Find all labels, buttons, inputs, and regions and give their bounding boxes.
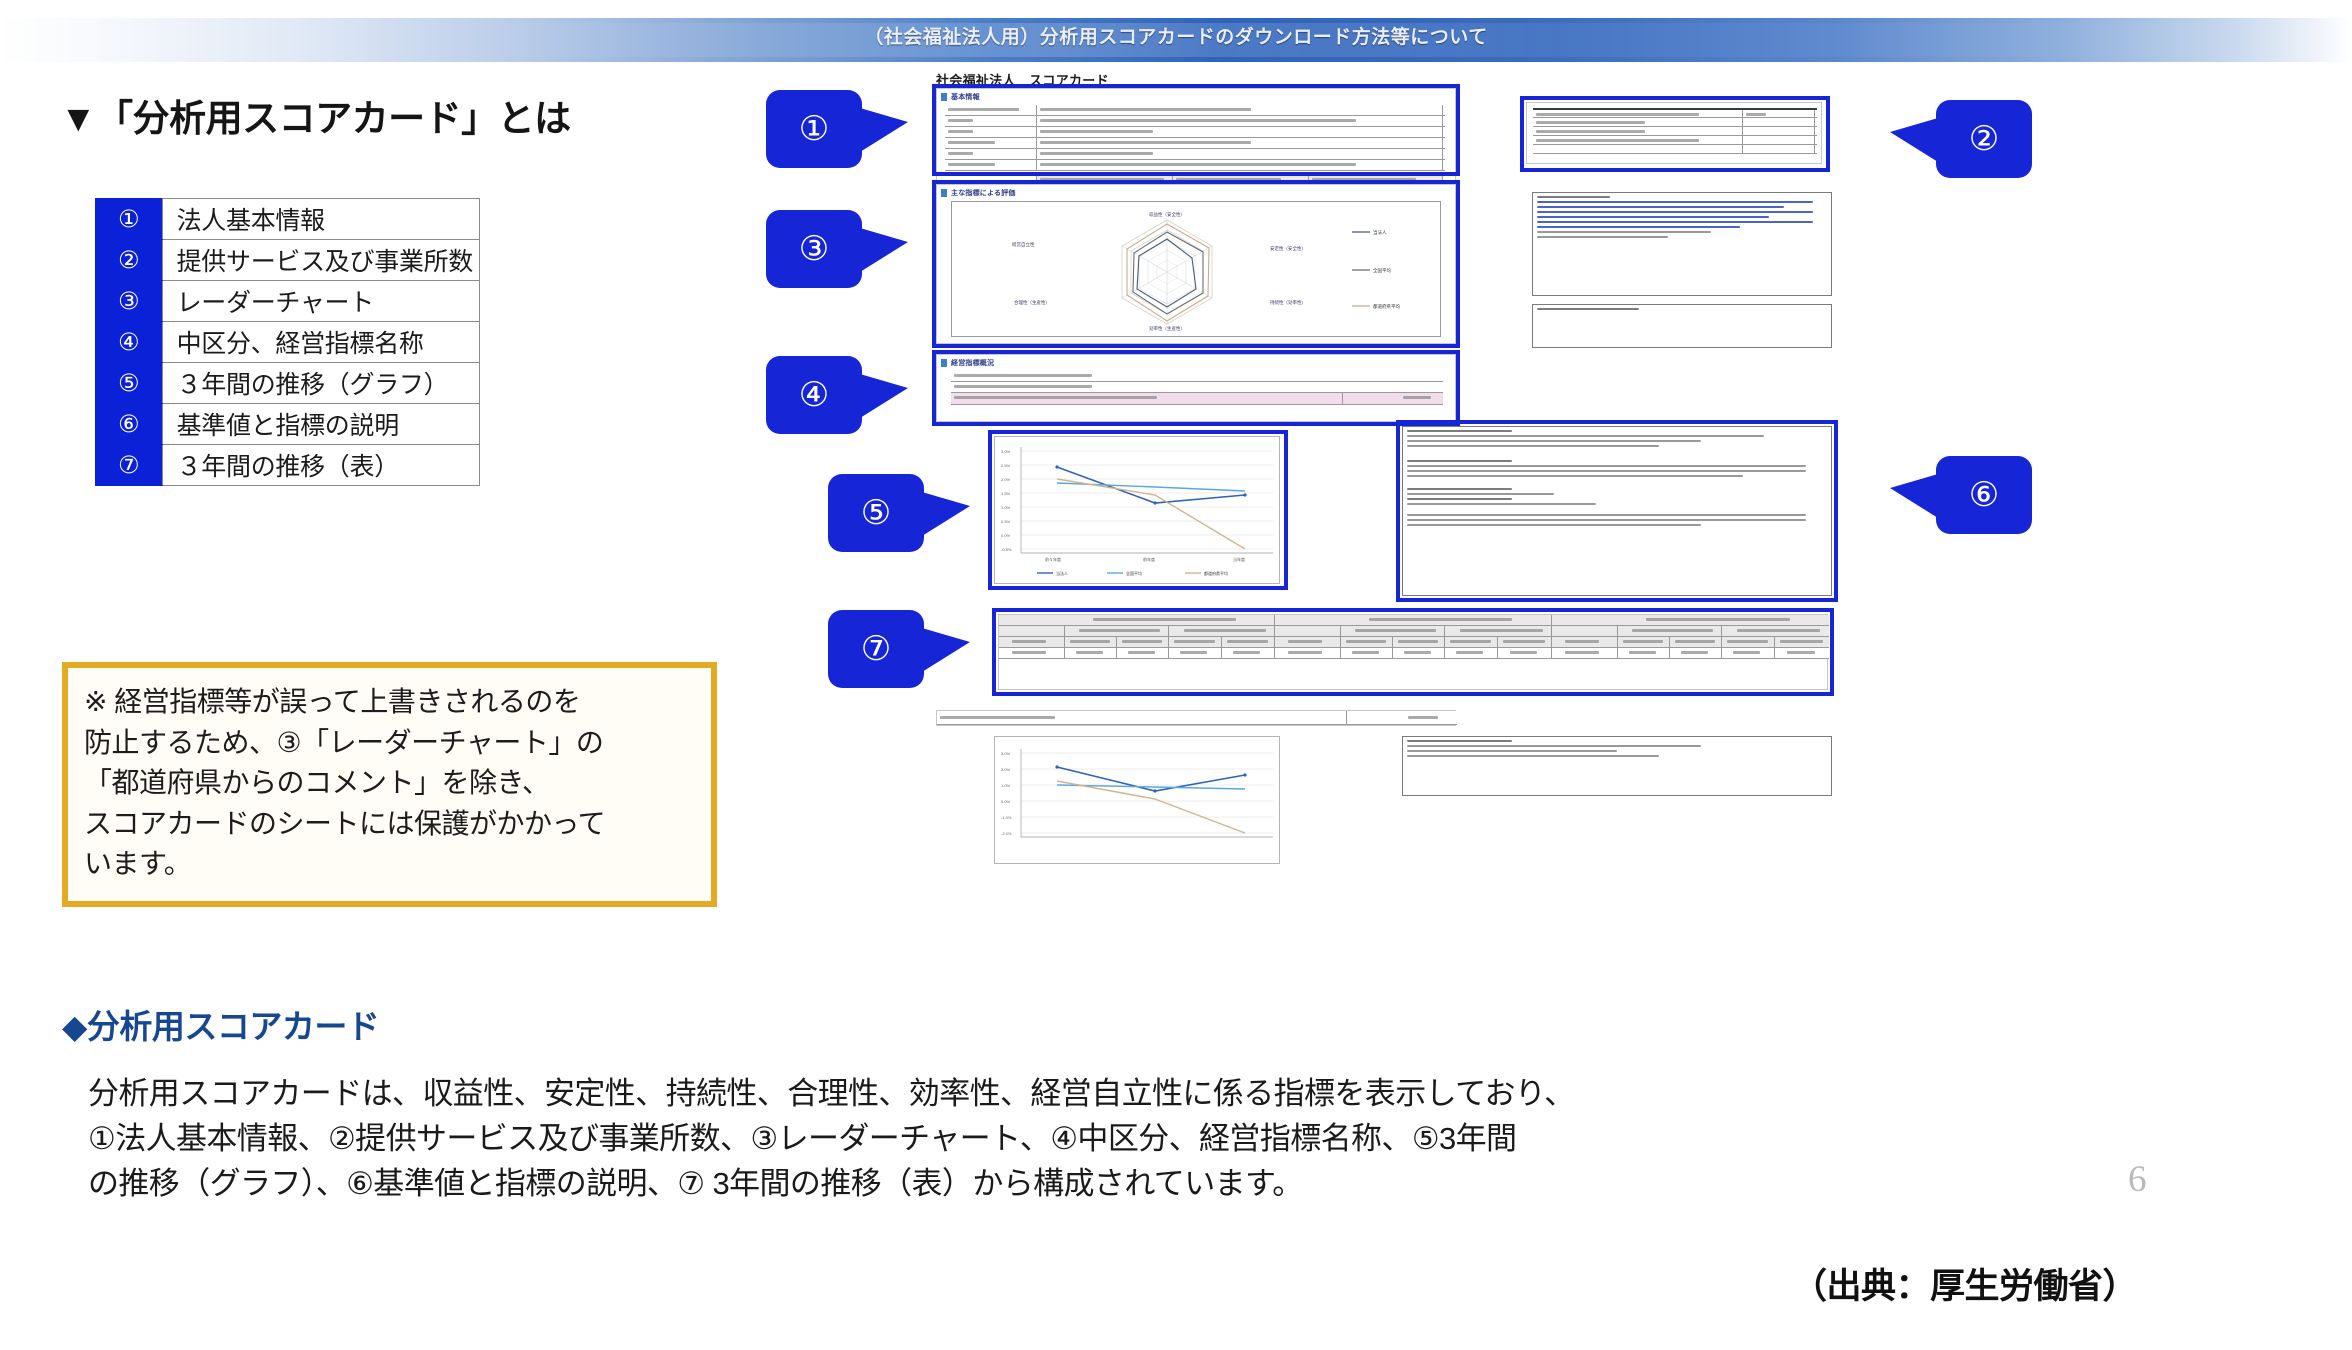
protection-note-box: ※ 経営指標等が誤って上書きされるのを 防止するため、③「レーダーチャート」の … bbox=[62, 662, 717, 907]
index-label-4: 中区分、経営指標名称 bbox=[162, 322, 479, 363]
body-line-2: ①法人基本情報、②提供サービス及び事業所数、③レーダーチャート、④中区分、経営指… bbox=[88, 1117, 2188, 1162]
index-label-3: レーダーチャート bbox=[162, 281, 479, 322]
trend-line-chart-2: 3.0%2.0%1.0% 0.0%-1.0%-2.0% bbox=[994, 736, 1280, 864]
table-row: ⑦ ３年間の推移（表） bbox=[96, 445, 480, 486]
callout-3-tip bbox=[860, 228, 908, 272]
indicator-panel-2 bbox=[936, 710, 1456, 726]
section-heading: ◆分析用スコアカード bbox=[62, 1000, 379, 1048]
svg-text:-1.0%: -1.0% bbox=[1001, 815, 1012, 820]
callout-4-label: ④ bbox=[799, 375, 829, 415]
index-label-7: ３年間の推移（表） bbox=[162, 445, 479, 486]
highlight-frame-5 bbox=[988, 430, 1288, 590]
callout-1-label: ① bbox=[799, 109, 829, 149]
svg-text:2.0%: 2.0% bbox=[1001, 767, 1011, 772]
page-title: （社会福祉法人用）分析用スコアカードのダウンロード方法等について bbox=[0, 22, 2352, 49]
note-line-1: ※ 経営指標等が誤って上書きされるのを bbox=[84, 682, 695, 723]
body-paragraph: 分析用スコアカードは、収益性、安定性、持続性、合理性、効率性、経営自立性に係る指… bbox=[88, 1072, 2188, 1207]
svg-text:1.0%: 1.0% bbox=[1001, 783, 1011, 788]
index-number-4: ④ bbox=[96, 322, 163, 363]
callout-5-label: ⑤ bbox=[861, 493, 891, 533]
callout-7-tip bbox=[922, 628, 970, 672]
index-number-6: ⑥ bbox=[96, 404, 163, 445]
callout-4: ④ bbox=[766, 356, 862, 434]
criteria-explanation-panel-2 bbox=[1402, 736, 1832, 796]
table-row: ① 法人基本情報 bbox=[96, 199, 480, 240]
callout-7: ⑦ bbox=[828, 610, 924, 688]
callout-5-tip bbox=[922, 492, 970, 536]
table-row: ② 提供サービス及び事業所数 bbox=[96, 240, 480, 281]
note-line-4: スコアカードのシートには保護がかかって bbox=[84, 804, 695, 845]
table-row: ④ 中区分、経営指標名称 bbox=[96, 322, 480, 363]
table-row: ⑥ 基準値と指標の説明 bbox=[96, 404, 480, 445]
callout-7-label: ⑦ bbox=[861, 629, 891, 669]
source-citation: （出典：厚生労働省） bbox=[1792, 1258, 2137, 1309]
lead-title: ▼「分析用スコアカード」とは bbox=[60, 88, 571, 142]
note-line-5: います。 bbox=[84, 844, 695, 885]
index-number-5: ⑤ bbox=[96, 363, 163, 404]
callout-1-tip bbox=[860, 108, 908, 152]
index-number-2: ② bbox=[96, 240, 163, 281]
note-line-2: 防止するため、③「レーダーチャート」の bbox=[84, 723, 695, 764]
highlight-frame-6 bbox=[1396, 420, 1838, 602]
highlight-frame-4 bbox=[932, 350, 1460, 426]
highlight-frame-7 bbox=[992, 608, 1834, 696]
callout-6: ⑥ bbox=[1936, 456, 2032, 534]
svg-text:0.0%: 0.0% bbox=[1001, 799, 1011, 804]
callout-2-label: ② bbox=[1969, 119, 1999, 159]
scorecard-screenshot: 社会福祉法人 スコアカード 基本情報 主な bbox=[936, 64, 2056, 1014]
callout-2-tip bbox=[1890, 118, 1938, 162]
callout-5: ⑤ bbox=[828, 474, 924, 552]
table-row: ⑤ ３年間の推移（グラフ） bbox=[96, 363, 480, 404]
highlight-frame-2 bbox=[1520, 96, 1830, 172]
trend-line-chart-2-svg: 3.0%2.0%1.0% 0.0%-1.0%-2.0% bbox=[995, 737, 1281, 865]
body-line-1: 分析用スコアカードは、収益性、安定性、持続性、合理性、効率性、経営自立性に係る指… bbox=[88, 1072, 2188, 1117]
callout-6-label: ⑥ bbox=[1969, 475, 1999, 515]
callout-3: ③ bbox=[766, 210, 862, 288]
prefecture-comment-note bbox=[1532, 304, 1832, 348]
highlight-frame-3 bbox=[932, 180, 1460, 348]
index-table: ① 法人基本情報 ② 提供サービス及び事業所数 ③ レーダーチャート ④ 中区分… bbox=[95, 198, 480, 486]
note-line-3: 「都道府県からのコメント」を除き、 bbox=[84, 763, 695, 804]
index-number-1: ① bbox=[96, 199, 163, 240]
index-label-6: 基準値と指標の説明 bbox=[162, 404, 479, 445]
index-number-7: ⑦ bbox=[96, 445, 163, 486]
index-number-3: ③ bbox=[96, 281, 163, 322]
highlight-frame-1 bbox=[932, 84, 1460, 176]
index-label-1: 法人基本情報 bbox=[162, 199, 479, 240]
index-label-2: 提供サービス及び事業所数 bbox=[162, 240, 479, 281]
callout-2: ② bbox=[1936, 100, 2032, 178]
svg-text:-2.0%: -2.0% bbox=[1001, 831, 1012, 836]
callout-6-tip bbox=[1890, 474, 1938, 518]
index-label-5: ３年間の推移（グラフ） bbox=[162, 363, 479, 404]
callout-4-tip bbox=[860, 374, 908, 418]
body-line-3: の推移（グラフ）、⑥基準値と指標の説明、⑦ 3年間の推移（表）から構成されていま… bbox=[88, 1162, 2188, 1207]
page-number: 6 bbox=[2128, 1158, 2147, 1201]
radar-explanation-note bbox=[1532, 192, 1832, 296]
callout-3-label: ③ bbox=[799, 229, 829, 269]
table-row: ③ レーダーチャート bbox=[96, 281, 480, 322]
callout-1: ① bbox=[766, 90, 862, 168]
svg-text:3.0%: 3.0% bbox=[1001, 751, 1011, 756]
